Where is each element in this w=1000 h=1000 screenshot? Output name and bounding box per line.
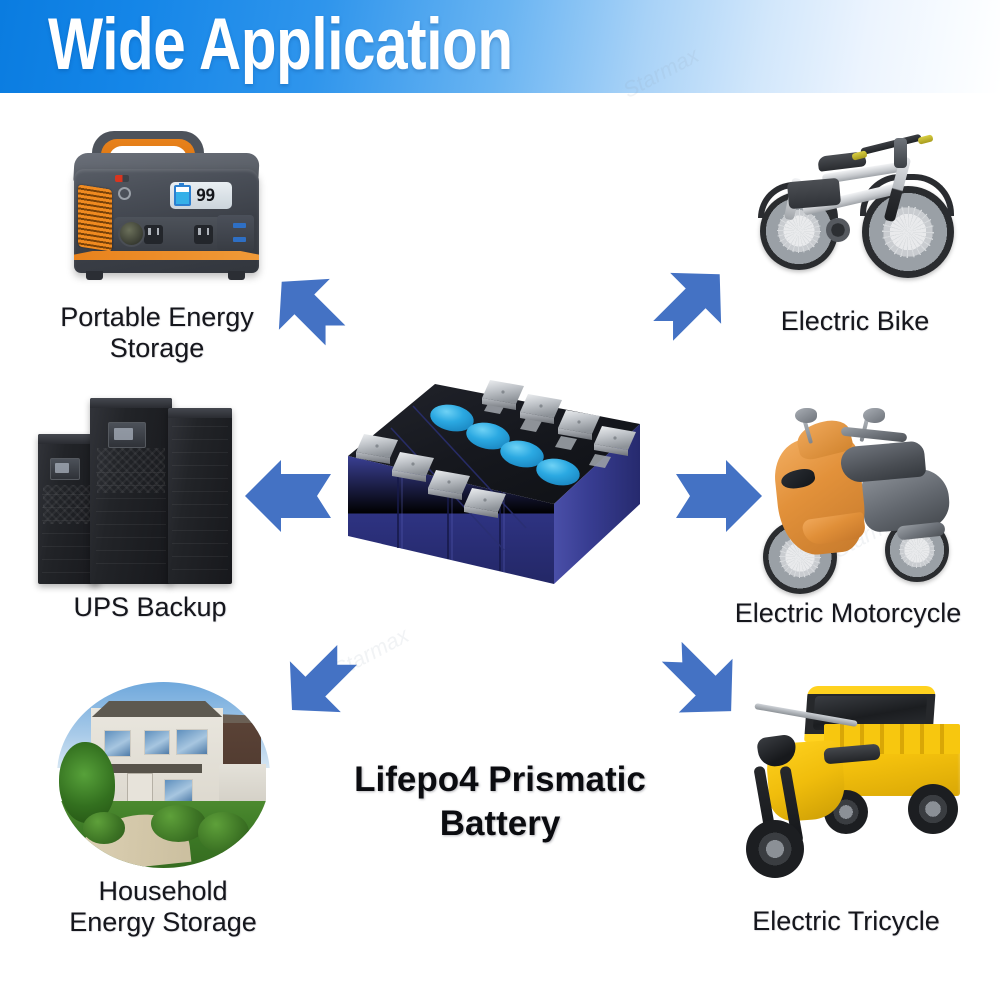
cabinet-slot-vents — [96, 472, 167, 572]
power-station-knob — [118, 187, 131, 200]
arrow-shape — [267, 629, 373, 735]
display-value: 99 — [196, 186, 214, 206]
tricycle-front-wheel — [746, 820, 804, 878]
caption-electric-bike: Electric Bike — [718, 306, 992, 337]
house-window — [144, 730, 169, 754]
arrow-shape — [245, 460, 331, 532]
ac-outlet — [194, 225, 213, 244]
portable-energy-storage-image: 99 — [52, 125, 277, 285]
cabinet-display — [50, 458, 79, 480]
cabinet-slot-vents — [172, 426, 227, 574]
cabinet-display — [108, 422, 146, 448]
battery-stack-image — [340, 378, 660, 608]
power-station-accent-stripe — [74, 251, 259, 260]
arrow-left — [243, 460, 347, 532]
ups-cabinet-center — [90, 398, 172, 584]
tricycle-rear-wheel — [908, 784, 958, 834]
arrow-right — [660, 460, 764, 532]
header-banner: Wide Application — [0, 0, 1000, 93]
caption-ups-backup: UPS Backup — [20, 592, 280, 623]
cabinet-top-panel — [168, 408, 232, 418]
caption-portable-energy-storage: Portable Energy Storage — [22, 302, 292, 364]
shrub — [198, 812, 249, 853]
arrow-shape — [645, 625, 758, 738]
arrow-down-left — [268, 628, 374, 734]
scooter-mirror-right — [863, 408, 885, 423]
cabinet-top-panel — [90, 398, 172, 408]
battery-level-icon — [174, 185, 191, 206]
caption-electric-tricycle: Electric Tricycle — [706, 906, 986, 937]
dc-car-socket — [118, 220, 145, 247]
bike-crank — [826, 218, 850, 242]
product-title: Lifepo4 Prismatic Battery — [250, 758, 750, 846]
scooter-seat — [840, 440, 927, 483]
cabinet-slot-vents — [42, 494, 95, 575]
house-window — [104, 730, 132, 756]
power-station-foot — [228, 271, 245, 280]
house-window — [164, 779, 194, 803]
arrow-shape — [256, 256, 361, 361]
power-station-vent-grille — [78, 184, 112, 251]
shrub — [83, 812, 126, 844]
scooter-mirror-left — [795, 408, 817, 423]
arrow-up-left — [258, 258, 362, 362]
house-window — [176, 729, 208, 755]
prismatic-battery-svg — [340, 378, 660, 608]
page-title: Wide Application — [48, 0, 513, 91]
tree — [59, 742, 114, 824]
arrow-shape — [676, 460, 762, 532]
bike-stem — [894, 138, 907, 168]
electric-tricycle-image — [728, 680, 973, 885]
usb-port — [233, 223, 246, 228]
usb-port-block — [217, 215, 254, 251]
caption-household-energy-storage: Household Energy Storage — [22, 876, 304, 938]
electric-motorcycle-image — [745, 408, 963, 598]
bike-battery-pack — [787, 178, 841, 209]
bike-handlebar — [860, 134, 922, 156]
household-energy-storage-image — [57, 682, 270, 868]
electric-bike-image — [752, 120, 960, 280]
ac-outlet — [144, 225, 163, 244]
arrow-shape — [638, 249, 745, 356]
power-station-display: 99 — [170, 182, 232, 209]
power-station-foot — [86, 271, 103, 280]
power-station-switch — [115, 175, 129, 182]
arrow-up-right — [636, 250, 744, 358]
ups-cabinet-right — [168, 408, 232, 584]
ups-backup-image — [38, 392, 253, 584]
arrow-down-right — [644, 624, 756, 736]
usb-port — [233, 237, 246, 242]
